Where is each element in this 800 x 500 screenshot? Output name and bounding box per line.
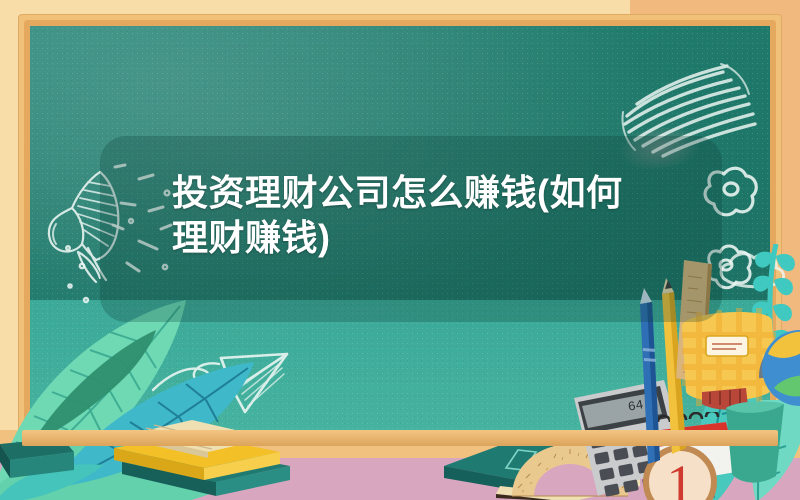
magnifier-number: 1 xyxy=(667,454,694,500)
cover-image-canvas: 64 xyxy=(0,0,800,500)
book-dark-left-edge xyxy=(0,438,80,500)
page-title: 投资理财公司怎么赚钱(如何理财赚钱) xyxy=(172,170,652,260)
book-stack-left xyxy=(108,404,298,500)
chalkboard-tray xyxy=(22,430,778,446)
